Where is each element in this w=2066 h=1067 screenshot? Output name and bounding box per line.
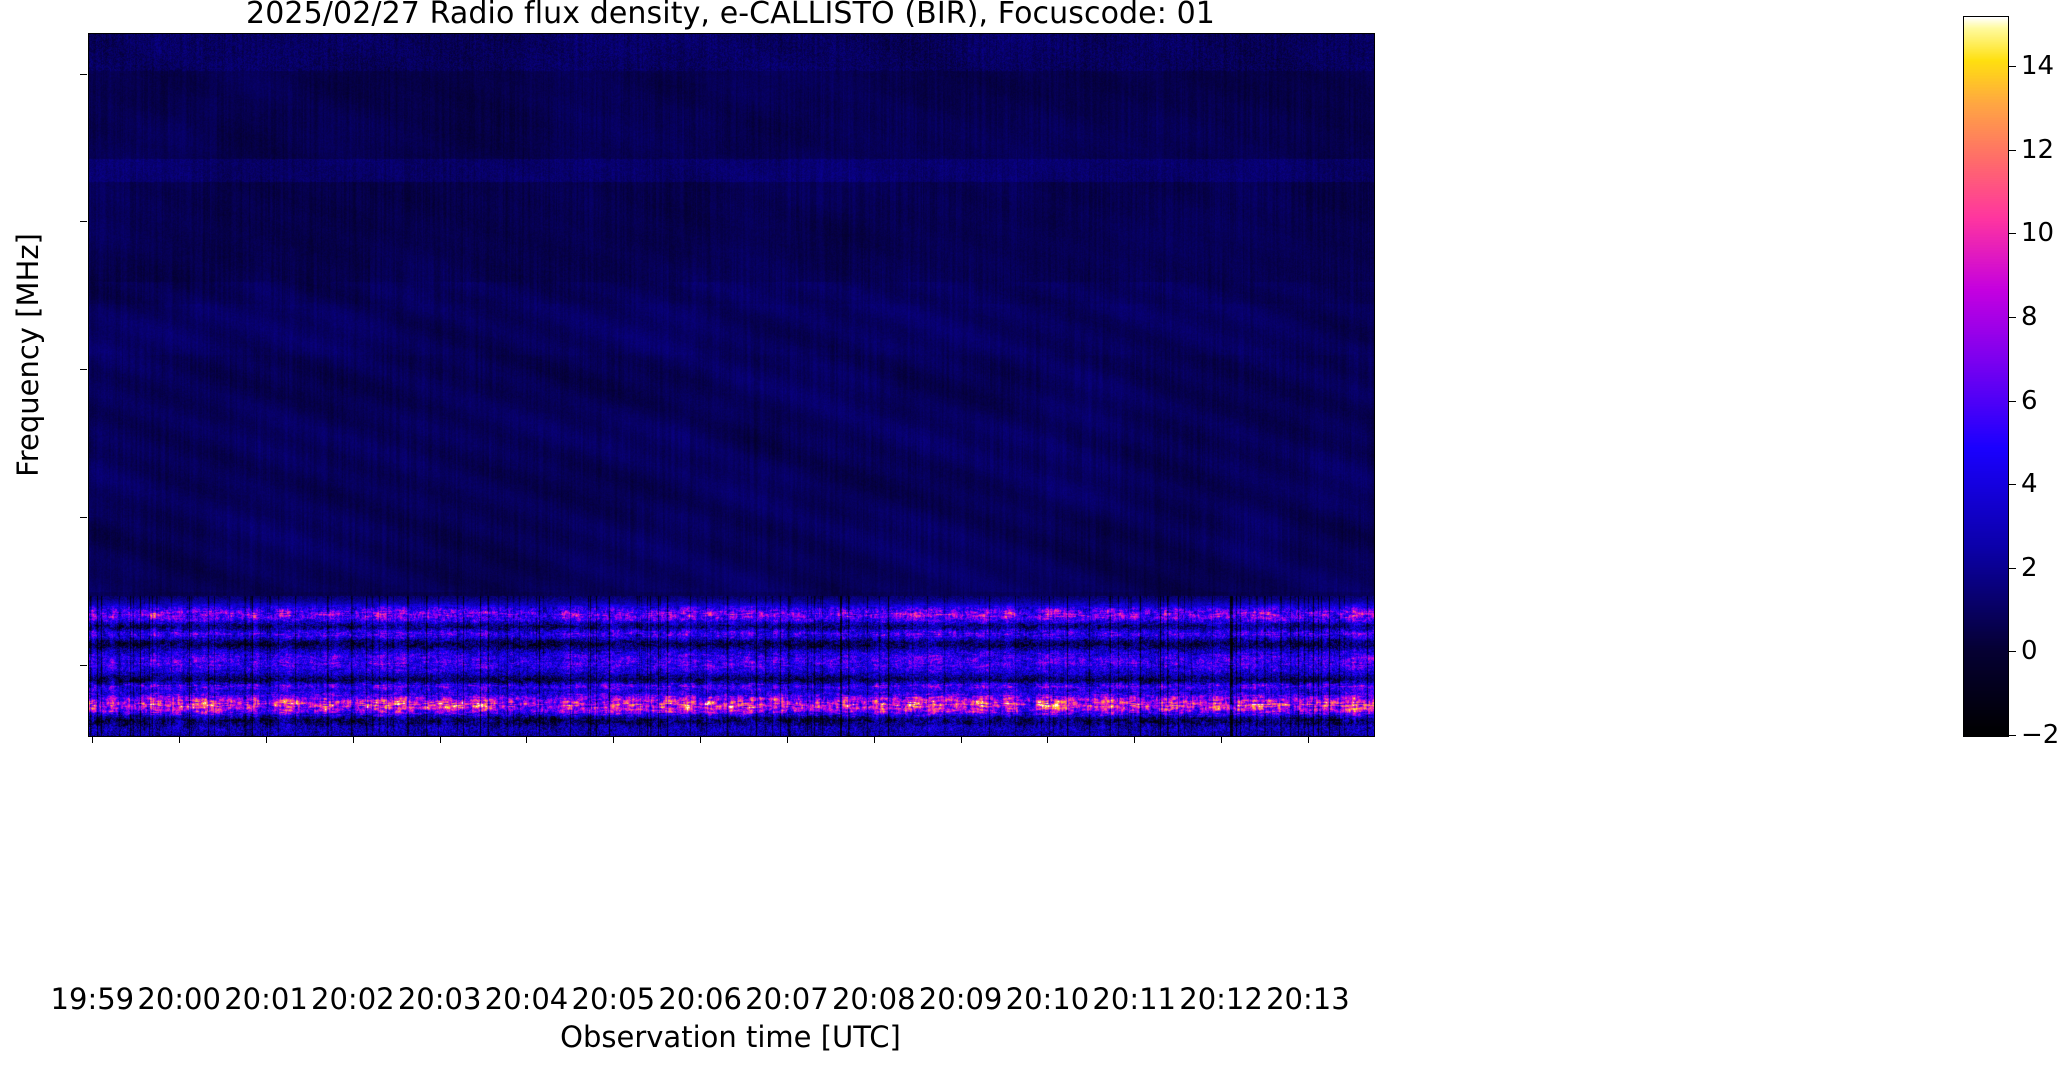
colorbar-tick-mark xyxy=(2009,401,2016,402)
colorbar-tick-label: 12 xyxy=(2021,135,2054,165)
x-tick-label: 20:09 xyxy=(919,982,1003,1016)
colorbar-tick-mark xyxy=(2009,484,2016,485)
x-axis-label: Observation time [UTC] xyxy=(88,1020,1373,1054)
x-tick-label: 20:12 xyxy=(1179,982,1263,1016)
x-tick-mark xyxy=(526,736,527,743)
x-tick-mark xyxy=(613,736,614,743)
x-tick-label: 20:11 xyxy=(1092,982,1176,1016)
x-tick-label: 20:10 xyxy=(1006,982,1090,1016)
x-tick-label: 20:05 xyxy=(571,982,655,1016)
x-tick-label: 20:01 xyxy=(224,982,308,1016)
colorbar-tick-label: 2 xyxy=(2021,553,2038,583)
x-tick-label: 20:13 xyxy=(1266,982,1350,1016)
x-tick-mark xyxy=(700,736,701,743)
spectrogram-figure: 2025/02/27 Radio flux density, e-CALLIST… xyxy=(0,0,2066,1067)
x-tick-mark xyxy=(787,736,788,743)
x-tick-mark xyxy=(961,736,962,743)
x-tick-label: 19:59 xyxy=(51,982,135,1016)
x-tick-mark xyxy=(1308,736,1309,743)
x-tick-label: 20:00 xyxy=(137,982,221,1016)
x-tick-mark xyxy=(440,736,441,743)
x-tick-label: 20:06 xyxy=(658,982,742,1016)
y-tick-mark xyxy=(80,369,87,370)
x-tick-mark xyxy=(179,736,180,743)
colorbar-tick-label: 10 xyxy=(2021,218,2054,248)
y-tick-mark xyxy=(80,221,87,222)
colorbar-tick-mark xyxy=(2009,317,2016,318)
colorbar-tick-label: 0 xyxy=(2021,636,2038,666)
x-tick-label: 20:03 xyxy=(398,982,482,1016)
x-tick-mark xyxy=(92,736,93,743)
spectrogram-image xyxy=(89,34,1374,736)
y-tick-mark xyxy=(80,74,87,75)
spectrogram-plot-area[interactable] xyxy=(88,33,1375,737)
y-tick-mark xyxy=(80,517,87,518)
colorbar-tick-mark xyxy=(2009,651,2016,652)
y-tick-mark xyxy=(80,665,87,666)
x-tick-mark xyxy=(1221,736,1222,743)
colorbar-tick-mark xyxy=(2009,233,2016,234)
y-axis-label: Frequency [MHz] xyxy=(11,205,45,505)
x-tick-label: 20:08 xyxy=(832,982,916,1016)
colorbar-tick-label: 8 xyxy=(2021,302,2038,332)
colorbar-tick-mark xyxy=(2009,568,2016,569)
colorbar-tick-label: 6 xyxy=(2021,386,2038,416)
x-tick-mark xyxy=(874,736,875,743)
x-tick-mark xyxy=(353,736,354,743)
colorbar-tick-label: −2 xyxy=(2021,720,2059,750)
x-tick-label: 20:04 xyxy=(485,982,569,1016)
x-tick-mark xyxy=(1134,736,1135,743)
x-tick-mark xyxy=(1047,736,1048,743)
colorbar-tick-label: 14 xyxy=(2021,51,2054,81)
x-tick-label: 20:07 xyxy=(745,982,829,1016)
x-tick-label: 20:02 xyxy=(311,982,395,1016)
colorbar-gradient xyxy=(1964,17,2008,736)
colorbar-tick-mark xyxy=(2009,735,2016,736)
colorbar[interactable] xyxy=(1963,16,2009,737)
colorbar-tick-mark xyxy=(2009,150,2016,151)
colorbar-tick-label: 4 xyxy=(2021,469,2038,499)
x-tick-mark xyxy=(266,736,267,743)
colorbar-tick-mark xyxy=(2009,66,2016,67)
page-title: 2025/02/27 Radio flux density, e-CALLIST… xyxy=(88,0,1373,32)
